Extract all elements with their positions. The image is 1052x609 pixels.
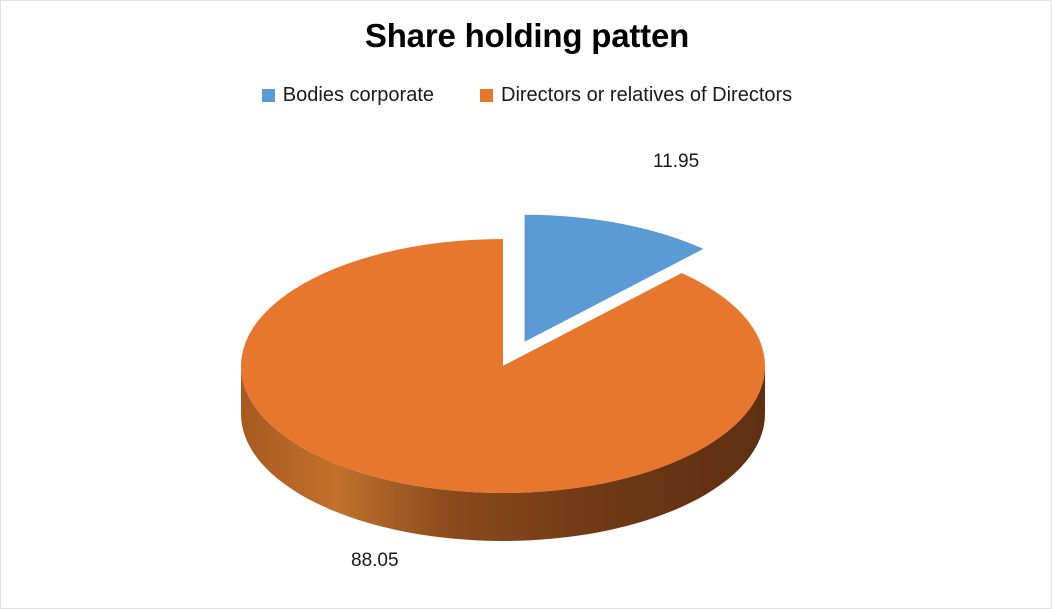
data-label-bodies-corporate: 11.95 xyxy=(653,151,699,173)
pie-slice-directors[interactable] xyxy=(241,239,765,493)
data-label-directors: 88.05 xyxy=(351,550,399,572)
chart-container: Share holding patten Bodies corporate Di… xyxy=(0,0,1052,609)
pie-chart-graphic xyxy=(1,1,1052,609)
